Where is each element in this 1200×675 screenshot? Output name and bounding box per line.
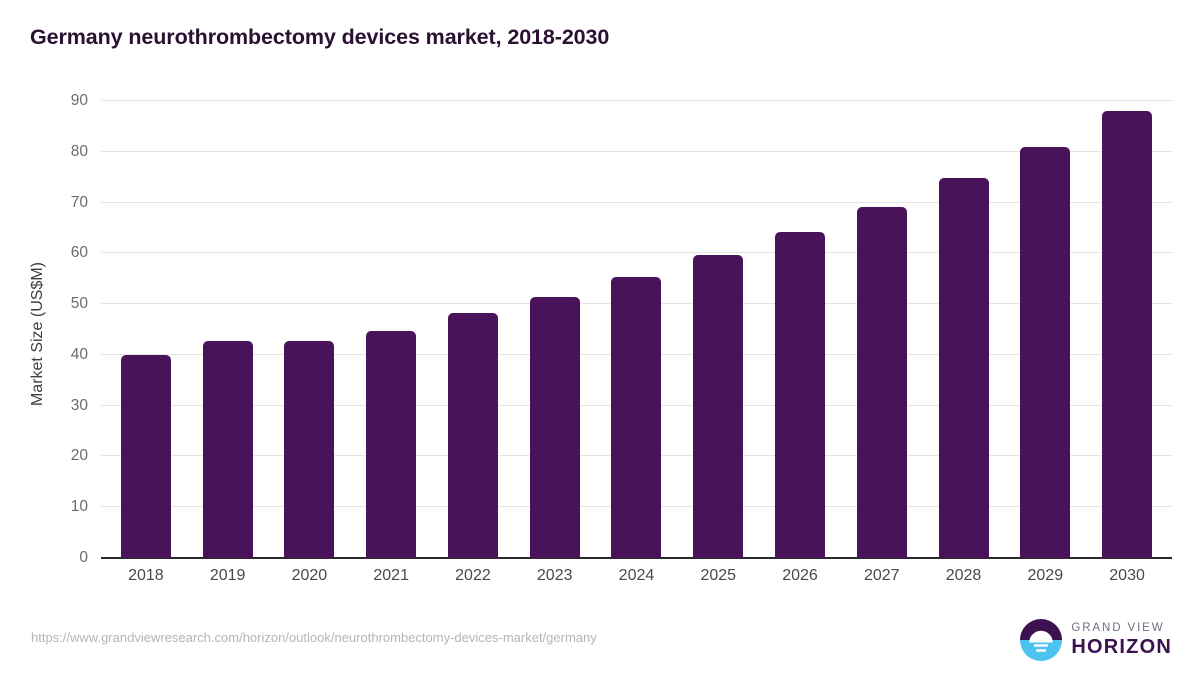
- x-axis-tick-label: 2026: [759, 567, 841, 585]
- bar-slot: 2028: [923, 101, 1005, 558]
- x-axis-tick-label: 2022: [432, 567, 514, 585]
- source-url[interactable]: https://www.grandviewresearch.com/horizo…: [31, 630, 597, 645]
- x-axis-tick-label: 2018: [105, 567, 187, 585]
- bar-slot: 2024: [596, 101, 678, 558]
- bar[interactable]: [203, 341, 253, 558]
- logo-text-line1: GRAND VIEW: [1071, 623, 1172, 635]
- x-axis-tick-label: 2030: [1086, 567, 1168, 585]
- bar-series: 2018201920202021202220232024202520262027…: [101, 101, 1172, 558]
- x-axis-tick-label: 2029: [1004, 567, 1086, 585]
- x-axis-tick-label: 2020: [269, 567, 351, 585]
- bar-slot: 2018: [105, 101, 187, 558]
- x-axis-tick-label: 2023: [514, 567, 596, 585]
- bar[interactable]: [775, 232, 825, 558]
- bar[interactable]: [1020, 147, 1070, 558]
- bar-slot: 2023: [514, 101, 596, 558]
- bar-slot: 2026: [759, 101, 841, 558]
- bar[interactable]: [611, 277, 661, 558]
- y-axis-tick-label: 80: [28, 143, 88, 161]
- plot-area: 0102030405060708090 20182019202020212022…: [101, 101, 1172, 558]
- bar[interactable]: [939, 178, 989, 558]
- x-axis-tick-label: 2027: [841, 567, 923, 585]
- y-axis-tick-label: 10: [28, 498, 88, 516]
- y-axis-tick-label: 60: [28, 244, 88, 262]
- bar[interactable]: [693, 255, 743, 558]
- y-axis-tick-label: 20: [28, 447, 88, 465]
- bar[interactable]: [366, 331, 416, 558]
- bar-slot: 2020: [269, 101, 351, 558]
- logo-text-line2: HORIZON: [1071, 637, 1172, 657]
- x-axis-tick-label: 2019: [187, 567, 269, 585]
- bar-slot: 2027: [841, 101, 923, 558]
- bar-slot: 2030: [1086, 101, 1168, 558]
- x-axis-tick-label: 2028: [923, 567, 1005, 585]
- y-axis-tick-label: 70: [28, 194, 88, 212]
- bar[interactable]: [121, 355, 171, 558]
- grand-view-horizon-logo[interactable]: GRAND VIEW HORIZON: [1020, 619, 1172, 661]
- grand-view-horizon-circle-icon: [1020, 619, 1062, 661]
- bar-slot: 2022: [432, 101, 514, 558]
- x-axis-tick-label: 2024: [596, 567, 678, 585]
- y-axis-tick-label: 90: [28, 92, 88, 110]
- bar[interactable]: [857, 207, 907, 558]
- bar-slot: 2029: [1004, 101, 1086, 558]
- bar-slot: 2019: [187, 101, 269, 558]
- chart-page: Germany neurothrombectomy devices market…: [0, 0, 1200, 675]
- logo-wordmark: GRAND VIEW HORIZON: [1071, 623, 1172, 658]
- x-axis-tick-label: 2021: [350, 567, 432, 585]
- bar[interactable]: [448, 313, 498, 558]
- y-axis-tick-label: 40: [28, 346, 88, 364]
- bar-slot: 2021: [350, 101, 432, 558]
- y-axis-tick-label: 0: [28, 549, 88, 567]
- bar-slot: 2025: [677, 101, 759, 558]
- y-axis-tick-label: 50: [28, 295, 88, 313]
- y-axis-tick-label: 30: [28, 397, 88, 415]
- bar[interactable]: [1102, 111, 1152, 558]
- page-title: Germany neurothrombectomy devices market…: [30, 25, 609, 50]
- x-axis-tick-label: 2025: [677, 567, 759, 585]
- bar[interactable]: [284, 341, 334, 558]
- bar[interactable]: [530, 297, 580, 559]
